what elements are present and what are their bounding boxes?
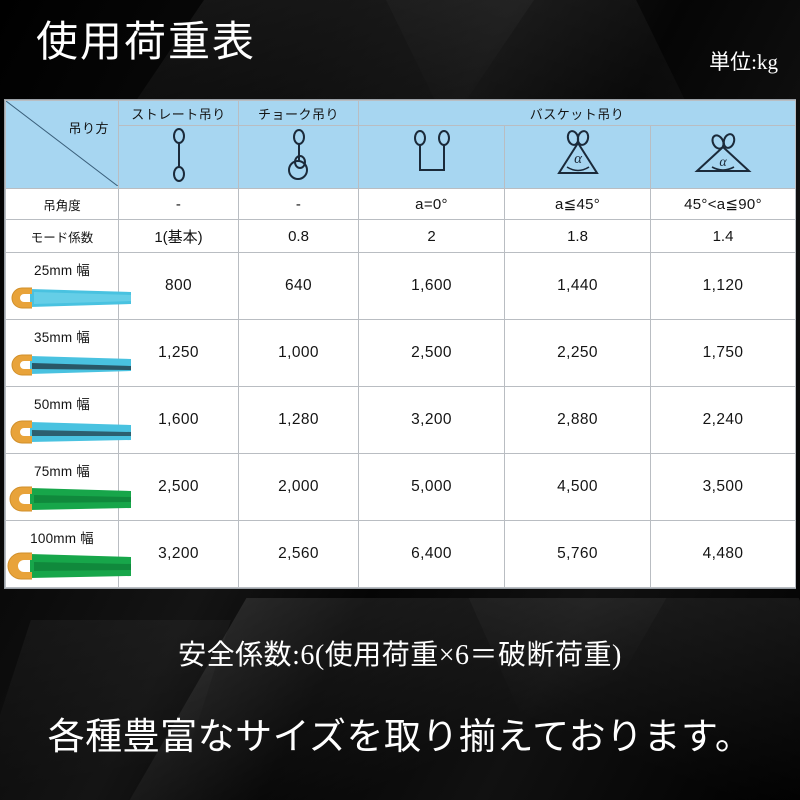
basket-triangle-wide-icon: α: [685, 127, 761, 183]
load-value: 1,440: [505, 253, 651, 320]
mode-value: 1.4: [651, 220, 796, 253]
basket-u-icon: [404, 127, 460, 183]
choke-sling-icon-cell: [239, 126, 359, 189]
load-value: 2,250: [505, 320, 651, 387]
group-header-straight: ストレート吊り: [119, 101, 239, 126]
load-chart-page: 使用荷重表 単位:kg 吊り方: [0, 0, 800, 800]
load-value: 640: [239, 253, 359, 320]
load-value: 1,600: [359, 253, 505, 320]
size-label: 50mm 幅: [6, 393, 118, 413]
load-value: 4,480: [651, 521, 796, 588]
load-value: 2,240: [651, 387, 796, 454]
basket-triangle-narrow-icon-cell: α: [505, 126, 651, 189]
load-value: 2,000: [239, 454, 359, 521]
size-cell: 75mm 幅: [6, 454, 119, 521]
load-value: 3,500: [651, 454, 796, 521]
load-value: 2,560: [239, 521, 359, 588]
load-value: 1,750: [651, 320, 796, 387]
load-value: 1,000: [239, 320, 359, 387]
sling-belt-green-icon: [6, 551, 131, 581]
basket-triangle-narrow-icon: α: [547, 127, 609, 183]
table-row: 35mm 幅 1,250 1,000 2,500 2,250 1,750: [6, 320, 796, 387]
load-value: 1,120: [651, 253, 796, 320]
load-value: 5,000: [359, 454, 505, 521]
basket-u-icon-cell: [359, 126, 505, 189]
unit-label: 単位:kg: [709, 52, 778, 73]
page-title: 使用荷重表: [36, 22, 256, 64]
page-footer: 安全係数:6(使用荷重×6＝破断荷重) 各種豊富なサイズを取り揃えております。: [0, 600, 800, 800]
corner-label: 吊り方: [68, 118, 109, 137]
load-value: 3,200: [119, 521, 239, 588]
table-row: 100mm 幅 3,200 2,560 6,400 5,760 4,480: [6, 521, 796, 588]
angle-value: 45°<a≦90°: [651, 189, 796, 220]
load-value: 4,500: [505, 454, 651, 521]
sling-belt-cyan-icon: [6, 350, 131, 380]
size-variety-note: 各種豊富なサイズを取り揃えております。: [0, 706, 800, 760]
load-value: 2,500: [359, 320, 505, 387]
safety-factor-note: 安全係数:6(使用荷重×6＝破断荷重): [0, 633, 800, 673]
load-value: 1,280: [239, 387, 359, 454]
size-label: 75mm 幅: [6, 460, 118, 480]
sling-belt-cyan-icon: [6, 417, 131, 447]
size-label: 100mm 幅: [6, 527, 118, 547]
sling-belt-green-icon: [6, 484, 131, 514]
table-row: 25mm 幅 800 640 1,600 1,440 1,120: [6, 253, 796, 320]
size-cell: 100mm 幅: [6, 521, 119, 588]
table-row-angle: 吊角度 - - a=0° a≦45° 45°<a≦90°: [6, 189, 796, 220]
load-value: 1,600: [119, 387, 239, 454]
table-group-header-row: 吊り方 ストレート吊り チョーク吊り バスケット吊り: [6, 101, 796, 126]
group-header-basket: バスケット吊り: [359, 101, 796, 126]
svg-text:α: α: [574, 151, 583, 167]
load-value: 5,760: [505, 521, 651, 588]
mode-value: 0.8: [239, 220, 359, 253]
angle-value: a=0°: [359, 189, 505, 220]
load-value: 2,500: [119, 454, 239, 521]
group-header-choke: チョーク吊り: [239, 101, 359, 126]
choke-sling-icon: [279, 127, 319, 183]
mode-value: 1(基本): [119, 220, 239, 253]
corner-cell: 吊り方: [6, 101, 119, 189]
straight-sling-icon: [159, 127, 199, 183]
size-label: 25mm 幅: [6, 259, 118, 279]
angle-value: -: [239, 189, 359, 220]
size-label: 35mm 幅: [6, 326, 118, 346]
table-icon-row: α α: [6, 126, 796, 189]
angle-row-label: 吊角度: [6, 189, 119, 220]
load-table-container: 吊り方 ストレート吊り チョーク吊り バスケット吊り: [4, 99, 796, 589]
load-table: 吊り方 ストレート吊り チョーク吊り バスケット吊り: [5, 100, 796, 588]
page-header: 使用荷重表 単位:kg: [0, 0, 800, 98]
load-value: 2,880: [505, 387, 651, 454]
load-value: 1,250: [119, 320, 239, 387]
diagonal-divider-icon: [6, 101, 118, 186]
svg-text:α: α: [719, 155, 727, 170]
basket-triangle-wide-icon-cell: α: [651, 126, 796, 189]
table-row: 50mm 幅 1,600 1,280 3,200 2,880 2,240: [6, 387, 796, 454]
load-value: 6,400: [359, 521, 505, 588]
load-value: 3,200: [359, 387, 505, 454]
size-cell: 50mm 幅: [6, 387, 119, 454]
mode-value: 1.8: [505, 220, 651, 253]
mode-row-label: モード係数: [6, 220, 119, 253]
mode-value: 2: [359, 220, 505, 253]
size-cell: 35mm 幅: [6, 320, 119, 387]
load-value: 800: [119, 253, 239, 320]
angle-value: a≦45°: [505, 189, 651, 220]
sling-belt-cyan-icon: [6, 283, 131, 313]
angle-value: -: [119, 189, 239, 220]
straight-sling-icon-cell: [119, 126, 239, 189]
size-cell: 25mm 幅: [6, 253, 119, 320]
table-row-mode: モード係数 1(基本) 0.8 2 1.8 1.4: [6, 220, 796, 253]
table-row: 75mm 幅 2,500 2,000 5,000 4,500 3,500: [6, 454, 796, 521]
